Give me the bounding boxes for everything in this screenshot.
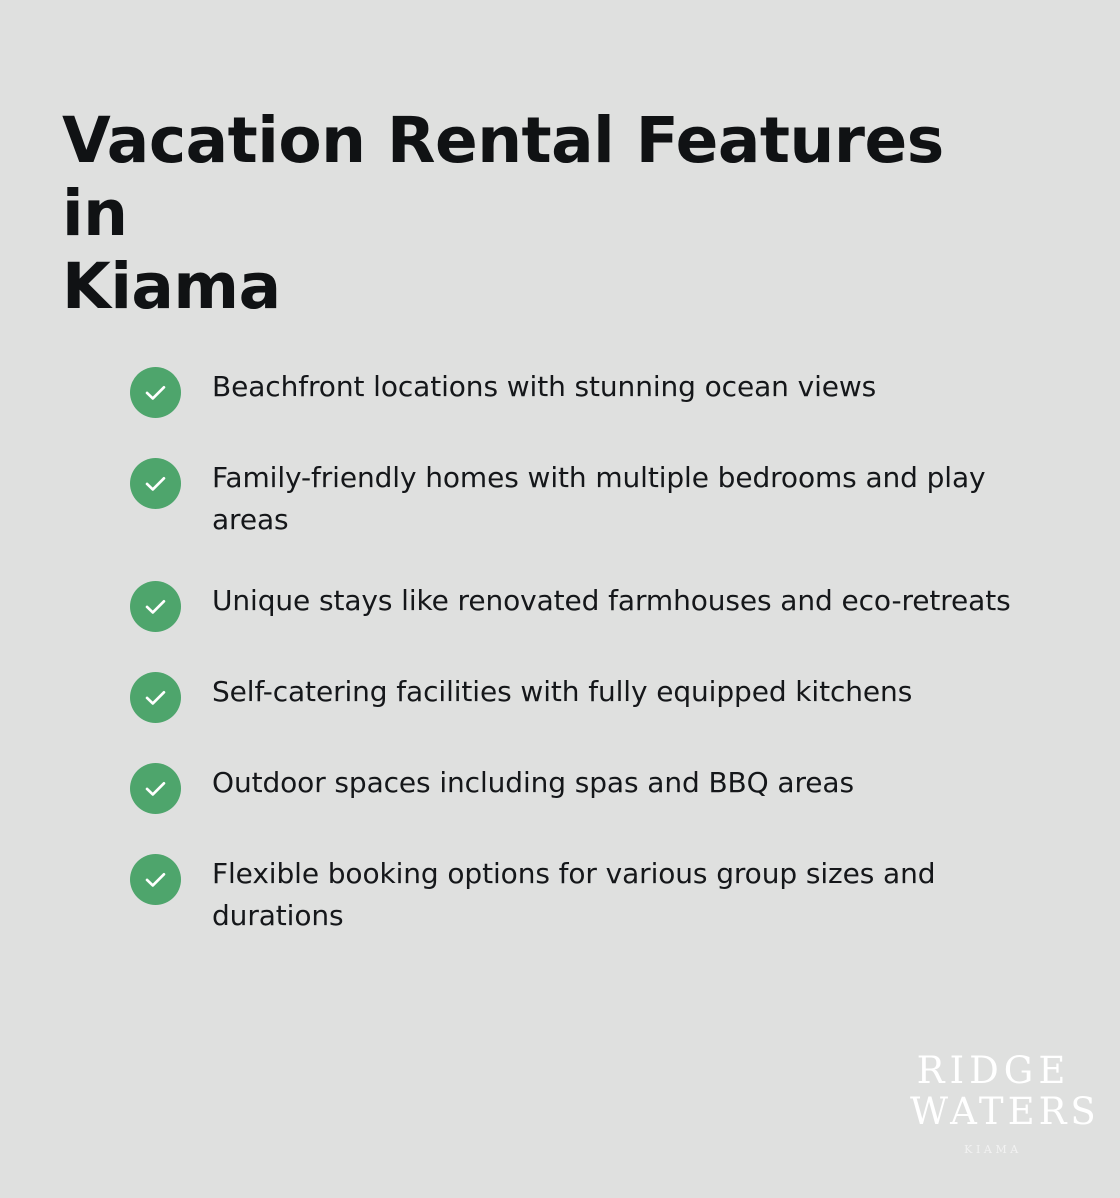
check-circle-icon [130,854,181,905]
feature-text: Self-catering facilities with fully equi… [212,671,1058,713]
check-circle-icon [130,763,181,814]
list-item: Unique stays like renovated farmhouses a… [130,580,1060,632]
check-circle-icon [130,672,181,723]
feature-list: Beachfront locations with stunning ocean… [130,366,1060,937]
brand-logo-subtitle: KIAMA [906,1143,1076,1156]
check-circle-icon [130,458,181,509]
list-item: Family-friendly homes with multiple bedr… [130,457,1060,541]
check-circle-icon [130,367,181,418]
feature-text: Unique stays like renovated farmhouses a… [212,580,1058,622]
list-item: Flexible booking options for various gro… [130,853,1060,937]
list-item: Outdoor spaces including spas and BBQ ar… [130,762,1060,814]
feature-text: Family-friendly homes with multiple bedr… [212,457,1058,541]
feature-text: Outdoor spaces including spas and BBQ ar… [212,762,1058,804]
list-item: Beachfront locations with stunning ocean… [130,366,1060,418]
brand-logo-line-2: WATERS [906,1093,1076,1130]
feature-text: Beachfront locations with stunning ocean… [212,366,1058,408]
page-title: Vacation Rental Features in Kiama [62,104,962,323]
poster-canvas: Vacation Rental Features in Kiama Beachf… [0,0,1120,1198]
list-item: Self-catering facilities with fully equi… [130,671,1060,723]
brand-logo-line-1: RIDGE [906,1052,1076,1089]
brand-logo: RIDGE WATERS KIAMA [906,1052,1076,1156]
title-block: Vacation Rental Features in Kiama [62,104,962,323]
feature-text: Flexible booking options for various gro… [212,853,1058,937]
check-circle-icon [130,581,181,632]
